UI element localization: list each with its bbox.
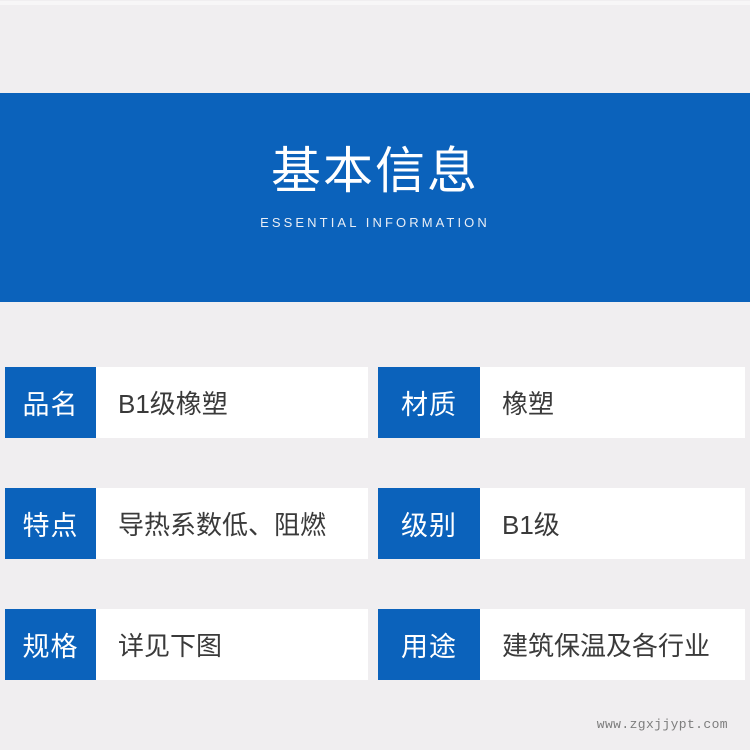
banner-text-block: 基本信息 ESSENTIAL INFORMATION bbox=[0, 141, 750, 231]
top-edge-strip bbox=[0, 1, 750, 5]
spec-value-material: 橡塑 bbox=[480, 367, 745, 438]
spec-pair-specification: 规格 详见下图 bbox=[5, 609, 368, 680]
spec-value-features: 导热系数低、阻燃 bbox=[96, 488, 368, 559]
banner-subtitle: ESSENTIAL INFORMATION bbox=[0, 215, 750, 231]
spec-value-grade: B1级 bbox=[480, 488, 745, 559]
product-info-page: 基本信息 ESSENTIAL INFORMATION 品名 B1级橡塑 材质 橡… bbox=[0, 0, 750, 750]
spec-label-material: 材质 bbox=[378, 367, 480, 438]
spec-label-grade: 级别 bbox=[378, 488, 480, 559]
spec-pair-application: 用途 建筑保温及各行业 bbox=[378, 609, 745, 680]
spec-pair-material: 材质 橡塑 bbox=[378, 367, 745, 438]
site-watermark: www.zgxjjypt.com bbox=[597, 717, 728, 732]
spec-value-specification: 详见下图 bbox=[96, 609, 368, 680]
table-row: 特点 导热系数低、阻燃 级别 B1级 bbox=[0, 488, 750, 559]
spec-value-application: 建筑保温及各行业 bbox=[480, 609, 745, 680]
spec-pair-product-name: 品名 B1级橡塑 bbox=[5, 367, 368, 438]
table-row: 品名 B1级橡塑 材质 橡塑 bbox=[0, 367, 750, 438]
spec-label-specification: 规格 bbox=[5, 609, 96, 680]
spec-label-product-name: 品名 bbox=[5, 367, 96, 438]
spec-pair-features: 特点 导热系数低、阻燃 bbox=[5, 488, 368, 559]
banner-title: 基本信息 bbox=[0, 141, 750, 201]
spec-label-application: 用途 bbox=[378, 609, 480, 680]
spec-value-product-name: B1级橡塑 bbox=[96, 367, 368, 438]
section-banner: 基本信息 ESSENTIAL INFORMATION bbox=[0, 93, 750, 302]
spec-pair-grade: 级别 B1级 bbox=[378, 488, 745, 559]
spec-table: 品名 B1级橡塑 材质 橡塑 特点 导热系数低、阻燃 级别 B1级 规格 详见下… bbox=[0, 367, 750, 680]
spec-label-features: 特点 bbox=[5, 488, 96, 559]
table-row: 规格 详见下图 用途 建筑保温及各行业 bbox=[0, 609, 750, 680]
